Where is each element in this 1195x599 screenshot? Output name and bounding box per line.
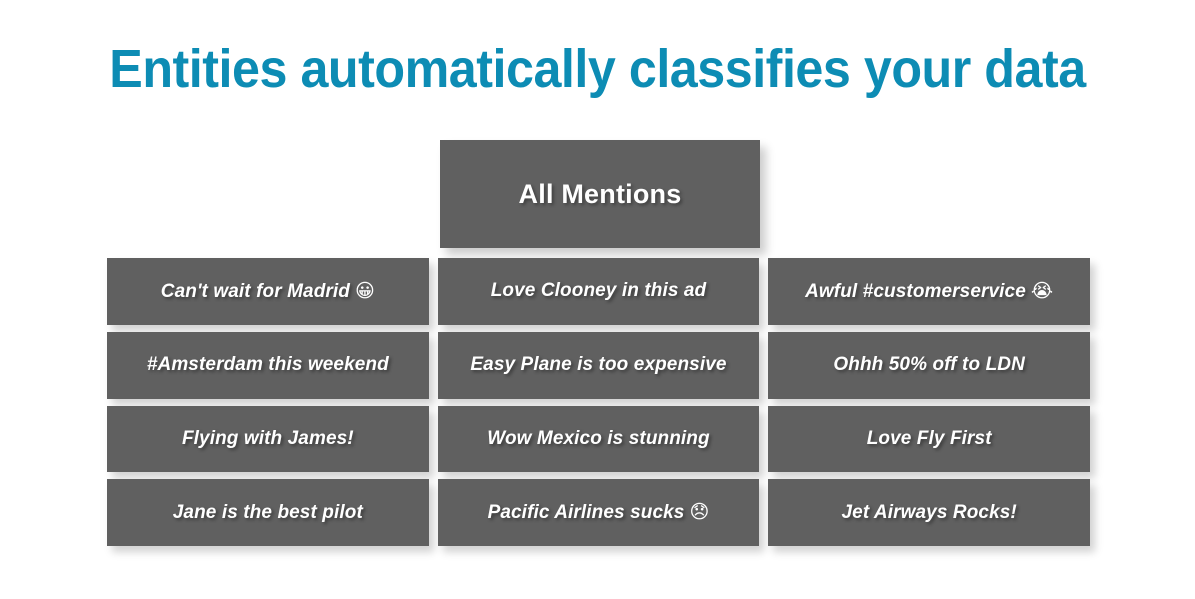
mention-cell[interactable]: Awful #customerservice😭 bbox=[768, 258, 1090, 325]
disappointed-face-emoji: 😞 bbox=[689, 501, 709, 523]
mention-label: Awful #customerservice😭 bbox=[799, 280, 1059, 303]
mention-label: Easy Plane is too expensive bbox=[464, 354, 732, 376]
mention-label: #Amsterdam this weekend bbox=[141, 354, 395, 376]
mention-label: Love Clooney in this ad bbox=[485, 280, 713, 302]
mention-cell[interactable]: Jane is the best pilot bbox=[107, 479, 429, 546]
root-node-label: All Mentions bbox=[519, 179, 682, 210]
mention-cell[interactable]: Love Clooney in this ad bbox=[438, 258, 760, 325]
mention-cell[interactable]: Wow Mexico is stunning bbox=[438, 406, 760, 473]
mention-cell[interactable]: Easy Plane is too expensive bbox=[438, 332, 760, 399]
mention-cell[interactable]: Jet Airways Rocks! bbox=[768, 479, 1090, 546]
mention-label: Jane is the best pilot bbox=[167, 502, 369, 524]
mention-cell[interactable]: Ohhh 50% off to LDN bbox=[768, 332, 1090, 399]
mention-label: Love Fly First bbox=[861, 428, 998, 450]
mention-label: Can't wait for Madrid😀 bbox=[155, 280, 381, 303]
grinning-face-emoji: 😀 bbox=[355, 280, 375, 302]
mention-grid: Can't wait for Madrid😀Love Clooney in th… bbox=[107, 258, 1090, 546]
mention-label: Ohhh 50% off to LDN bbox=[827, 354, 1031, 376]
mention-cell[interactable]: Love Fly First bbox=[768, 406, 1090, 473]
mention-cell[interactable]: Can't wait for Madrid😀 bbox=[107, 258, 429, 325]
page-title: Entities automatically classifies your d… bbox=[42, 38, 1153, 100]
mention-label: Wow Mexico is stunning bbox=[481, 428, 715, 450]
root-node-all-mentions[interactable]: All Mentions bbox=[440, 140, 760, 248]
mention-cell[interactable]: Pacific Airlines sucks😞 bbox=[438, 479, 760, 546]
mention-label: Pacific Airlines sucks😞 bbox=[482, 501, 716, 524]
mention-cell[interactable]: Flying with James! bbox=[107, 406, 429, 473]
mention-label: Flying with James! bbox=[176, 428, 360, 450]
mention-label: Jet Airways Rocks! bbox=[835, 502, 1022, 524]
loudly-crying-face-emoji: 😭 bbox=[1031, 280, 1053, 302]
mention-cell[interactable]: #Amsterdam this weekend bbox=[107, 332, 429, 399]
slide-canvas: Entities automatically classifies your d… bbox=[0, 0, 1195, 599]
